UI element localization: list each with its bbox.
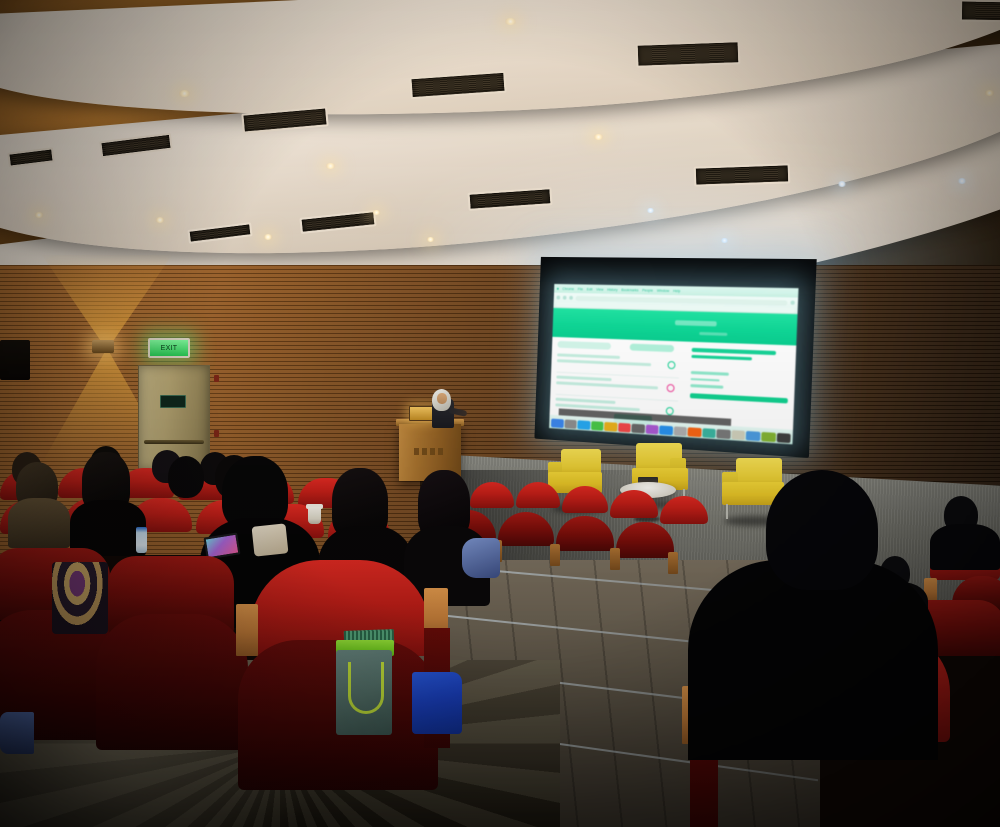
question-list-label (557, 341, 611, 350)
result-option-1 (691, 371, 729, 375)
reload-icon[interactable] (569, 296, 573, 300)
dock-icon-mail[interactable] (632, 424, 645, 434)
green-tote-handle (348, 662, 384, 714)
dock-icon-messages[interactable] (591, 421, 604, 431)
podium-logo (414, 448, 444, 455)
dock-icon-launchpad[interactable] (564, 419, 577, 428)
dock-icon-terminal[interactable] (761, 432, 775, 442)
question-sub-2 (556, 381, 658, 389)
menubar-item-help: Help (673, 289, 680, 293)
seat-armrest (236, 604, 258, 656)
armchair-leg-left (726, 504, 728, 519)
door-push-bar[interactable] (144, 440, 204, 444)
dock-icon-safari[interactable] (577, 420, 590, 430)
dock-icon-keynote[interactable] (688, 427, 702, 437)
profile-icon[interactable] (790, 301, 794, 305)
hvac-vent-8 (636, 40, 741, 68)
wall-loudspeaker (0, 340, 30, 380)
dock-icon-music[interactable] (618, 423, 631, 433)
question-status-icon-2[interactable] (667, 384, 675, 392)
result-question-line-1 (692, 348, 776, 355)
person-head (168, 456, 204, 498)
ceiling-downlight-10 (837, 181, 847, 187)
ceiling-downlight-6 (155, 217, 165, 223)
water-bottle[interactable] (136, 527, 147, 553)
person-body (688, 560, 938, 760)
person-body (8, 498, 70, 548)
app-result-panel (690, 348, 790, 403)
screen-top-bar (540, 257, 817, 286)
question-row-2[interactable] (556, 376, 679, 402)
dock-icon-calendar[interactable] (702, 428, 716, 438)
wall-sconce-fixture (92, 340, 114, 353)
laptop-on-podium[interactable] (409, 406, 434, 421)
ceiling-downlight-3 (504, 18, 517, 25)
dock-icon-photos[interactable] (645, 425, 658, 435)
menubar-item-file: File (578, 287, 583, 291)
ceiling-downlight-4 (593, 134, 604, 140)
result-option-2 (691, 378, 720, 382)
menubar-item-history: History (607, 287, 618, 291)
ceiling-downlight-14 (372, 210, 381, 215)
blue-tote-bag[interactable] (412, 672, 462, 734)
menubar-item-window: Window (657, 288, 670, 292)
question-status-icon-1[interactable] (667, 361, 675, 369)
cream-tote-bag[interactable] (252, 523, 289, 556)
result-question-line-2 (691, 354, 751, 360)
presenter-face (437, 393, 447, 404)
ceiling-downlight-8 (646, 208, 655, 213)
primary-action-button[interactable] (630, 344, 675, 353)
dock-icon-chrome[interactable] (659, 425, 672, 435)
projected-application: ■ Chrome File Edit View History Bookmark… (549, 284, 798, 444)
ceiling-downlight-7 (34, 212, 44, 218)
hvac-vent-10 (960, 0, 1000, 23)
menubar-item-edit: Edit (587, 287, 593, 291)
projection-screen: ■ Chrome File Edit View History Bookmark… (534, 257, 816, 458)
question-sub-1 (557, 359, 652, 366)
ceiling-downlight-5 (263, 234, 273, 240)
door-plaque (160, 395, 186, 408)
wall-indicator-light-lower (214, 430, 219, 437)
person-head (766, 470, 878, 590)
seat-armrest (668, 552, 678, 574)
auditorium-scene: EXIT ■ Chrome File Edit View History Boo… (0, 0, 1000, 827)
ceiling-downlight-2 (325, 163, 336, 169)
ceiling-downlight-12 (984, 90, 995, 96)
dock-icon-finder[interactable] (551, 419, 564, 428)
forward-icon[interactable] (563, 296, 567, 300)
dock-icon-notes[interactable] (604, 422, 617, 432)
dock-icon-settings[interactable] (717, 429, 731, 439)
patterned-handbag[interactable] (52, 562, 108, 634)
app-hero-title (675, 320, 717, 326)
exit-sign: EXIT (148, 338, 190, 358)
result-option-3 (690, 384, 723, 388)
menubar-item-view: View (596, 287, 603, 291)
seat-armrest (550, 544, 560, 566)
foreground-blue-sleeve (0, 712, 34, 754)
result-progress-bar (690, 393, 788, 403)
person-body (930, 524, 1000, 570)
ceiling-downlight-11 (957, 178, 967, 184)
dock-icon-preview[interactable] (674, 426, 688, 436)
seat-back (96, 614, 248, 750)
ceiling-downlight-9 (720, 238, 729, 243)
question-row-1[interactable] (557, 353, 680, 378)
ceiling-downlight-13 (426, 237, 435, 242)
menubar-item-people: People (642, 288, 653, 292)
app-hero-subtitle (699, 332, 727, 336)
seat-armrest (610, 548, 620, 570)
dock-icon-trash[interactable] (776, 433, 791, 443)
ceiling-downlight-1 (178, 90, 191, 97)
question-title-1 (557, 353, 619, 359)
wall-indicator-light-upper (214, 375, 219, 382)
dock-icon-finder-alt[interactable] (731, 430, 745, 440)
hvac-vent-9 (694, 163, 791, 186)
dock-icon-appstore[interactable] (746, 431, 760, 441)
question-title-2 (556, 376, 611, 382)
coffee-cup[interactable] (308, 507, 321, 524)
person-sleeve (462, 538, 500, 578)
menubar-item-bookmarks: Bookmarks (621, 288, 638, 292)
menubar-item-chrome: Chrome (562, 287, 574, 291)
back-icon[interactable] (556, 296, 560, 300)
menubar-apple-icon: ■ (557, 286, 559, 290)
menubar-spacer (684, 291, 795, 293)
